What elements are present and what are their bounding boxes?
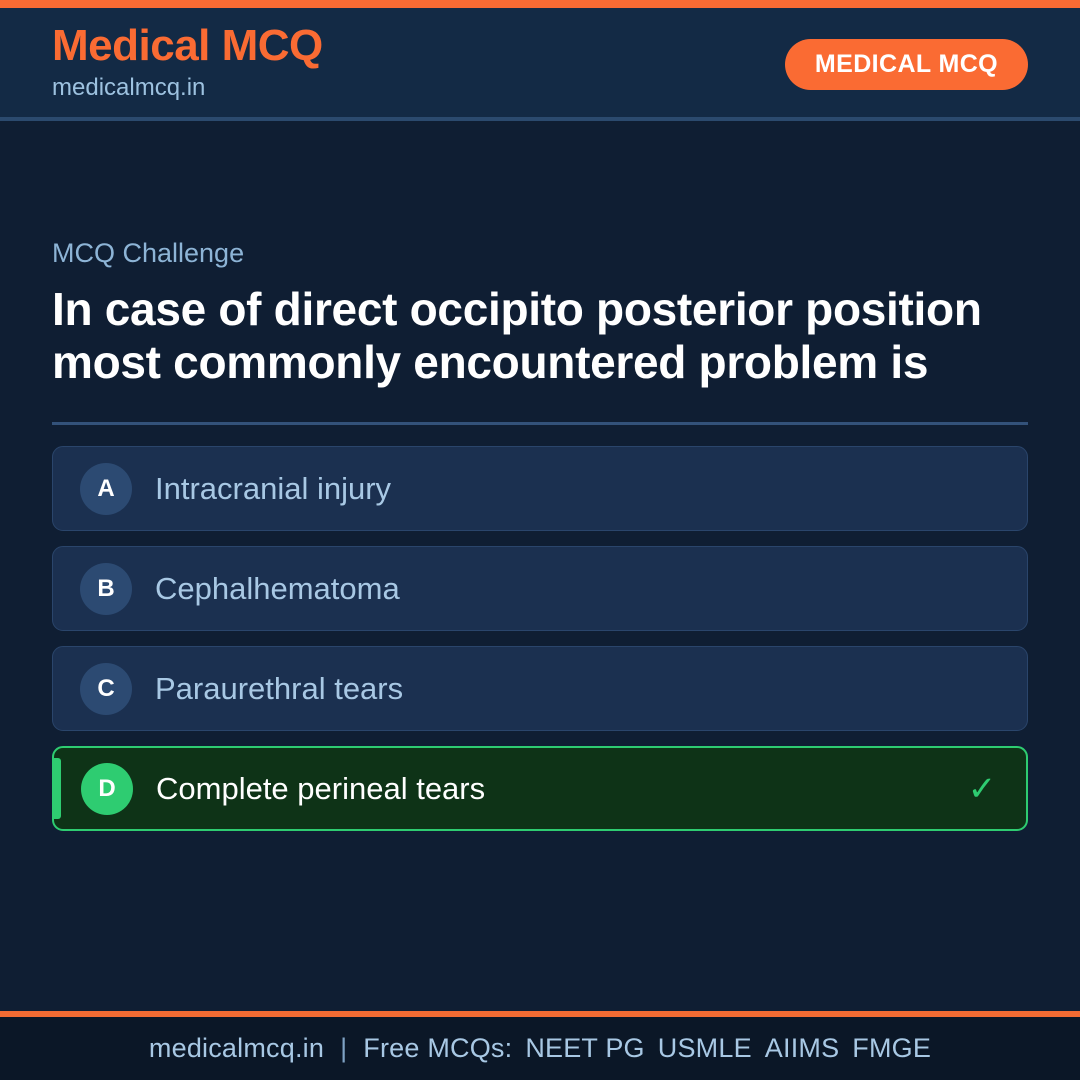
correct-accent-bar xyxy=(54,758,61,819)
option-label: Intracranial injury xyxy=(155,470,965,507)
options-list: A Intracranial injury B Cephalhematoma C… xyxy=(52,446,1028,831)
option-label: Paraurethral tears xyxy=(155,670,965,707)
question-divider xyxy=(52,422,1028,425)
footer-tag-neet-pg: NEET PG xyxy=(512,1033,644,1064)
footer-tag-fmge: FMGE xyxy=(839,1033,931,1064)
header-badge: MEDICAL MCQ xyxy=(785,39,1028,90)
mcq-card: Medical MCQ medicalmcq.in MEDICAL MCQ MC… xyxy=(0,0,1080,1080)
option-d[interactable]: D Complete perineal tears ✓ xyxy=(52,746,1028,831)
option-label: Cephalhematoma xyxy=(155,570,965,607)
option-b[interactable]: B Cephalhematoma xyxy=(52,546,1028,631)
option-c[interactable]: C Paraurethral tears xyxy=(52,646,1028,731)
page-footer: medicalmcq.in | Free MCQs: NEET PG USMLE… xyxy=(0,1017,1080,1080)
brand-block: Medical MCQ medicalmcq.in xyxy=(52,24,323,106)
brand-title: Medical MCQ xyxy=(52,24,323,69)
footer-tag-usmle: USMLE xyxy=(645,1033,752,1064)
option-letter-badge: B xyxy=(80,563,132,615)
eyebrow-label: MCQ Challenge xyxy=(52,239,1028,269)
footer-separator: | xyxy=(324,1033,363,1064)
option-letter-badge: D xyxy=(81,763,133,815)
page-header: Medical MCQ medicalmcq.in MEDICAL MCQ xyxy=(0,8,1080,121)
footer-tag-aiims: AIIMS xyxy=(752,1033,840,1064)
top-accent-bar xyxy=(0,0,1080,8)
brand-domain: medicalmcq.in xyxy=(52,71,323,106)
footer-site: medicalmcq.in xyxy=(149,1033,324,1064)
option-letter-badge: A xyxy=(80,463,132,515)
option-a[interactable]: A Intracranial injury xyxy=(52,446,1028,531)
check-icon: ✓ xyxy=(964,772,1000,806)
option-letter-badge: C xyxy=(80,663,132,715)
main-content: MCQ Challenge In case of direct occipito… xyxy=(0,121,1080,1011)
option-label: Complete perineal tears xyxy=(156,770,964,807)
question-text: In case of direct occipito posterior pos… xyxy=(52,283,1012,390)
footer-prefix: Free MCQs: xyxy=(363,1033,512,1064)
